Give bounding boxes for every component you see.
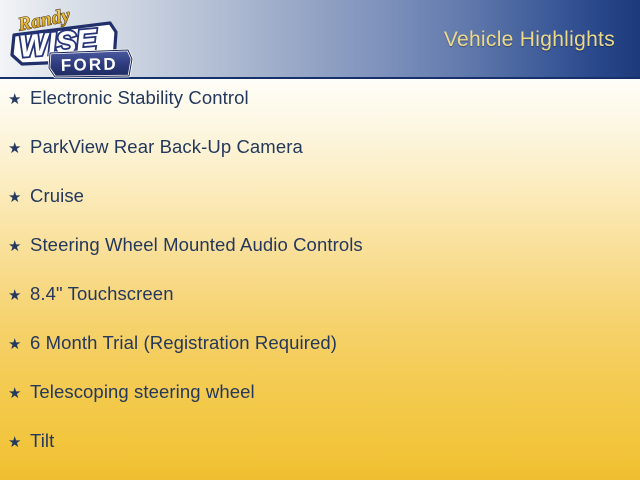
list-item: ★ ParkView Rear Back-Up Camera bbox=[0, 138, 640, 187]
star-bullet-icon: ★ bbox=[8, 141, 30, 156]
star-bullet-icon: ★ bbox=[8, 288, 30, 303]
highlight-label: Electronic Stability Control bbox=[30, 89, 249, 108]
svg-text:FORD: FORD bbox=[61, 55, 118, 75]
highlight-label: ParkView Rear Back-Up Camera bbox=[30, 138, 303, 157]
highlight-label: Tilt bbox=[30, 432, 54, 451]
list-item: ★ Steering Wheel Mounted Audio Controls bbox=[0, 236, 640, 285]
list-item: ★ Cruise bbox=[0, 187, 640, 236]
header-bar: Randy WISE FORD Vehicle Highlights bbox=[0, 0, 640, 79]
page-title: Vehicle Highlights bbox=[444, 28, 615, 52]
highlight-label: Cruise bbox=[30, 187, 84, 206]
list-item: ★ Electronic Stability Control bbox=[0, 89, 640, 138]
vehicle-highlights-list: ★ Electronic Stability Control ★ ParkVie… bbox=[0, 89, 640, 480]
highlight-label: 6 Month Trial (Registration Required) bbox=[30, 334, 337, 353]
randy-wise-ford-logo: Randy WISE FORD bbox=[6, 2, 138, 82]
star-bullet-icon: ★ bbox=[8, 190, 30, 205]
star-bullet-icon: ★ bbox=[8, 337, 30, 352]
list-item: ★ 6 Month Trial (Registration Required) bbox=[0, 334, 640, 383]
star-bullet-icon: ★ bbox=[8, 239, 30, 254]
highlight-label: 8.4" Touchscreen bbox=[30, 285, 174, 304]
highlight-label: Telescoping steering wheel bbox=[30, 383, 255, 402]
content-panel: ★ Electronic Stability Control ★ ParkVie… bbox=[0, 79, 640, 480]
star-bullet-icon: ★ bbox=[8, 435, 30, 450]
highlight-label: Steering Wheel Mounted Audio Controls bbox=[30, 236, 363, 255]
list-item: ★ Tilt bbox=[0, 432, 640, 480]
list-item: ★ 8.4" Touchscreen bbox=[0, 285, 640, 334]
vehicle-highlights-slide: Randy WISE FORD Vehicle Highlights bbox=[0, 0, 640, 480]
star-bullet-icon: ★ bbox=[8, 92, 30, 107]
list-item: ★ Telescoping steering wheel bbox=[0, 383, 640, 432]
star-bullet-icon: ★ bbox=[8, 386, 30, 401]
logo-ford-banner: FORD bbox=[49, 50, 132, 77]
